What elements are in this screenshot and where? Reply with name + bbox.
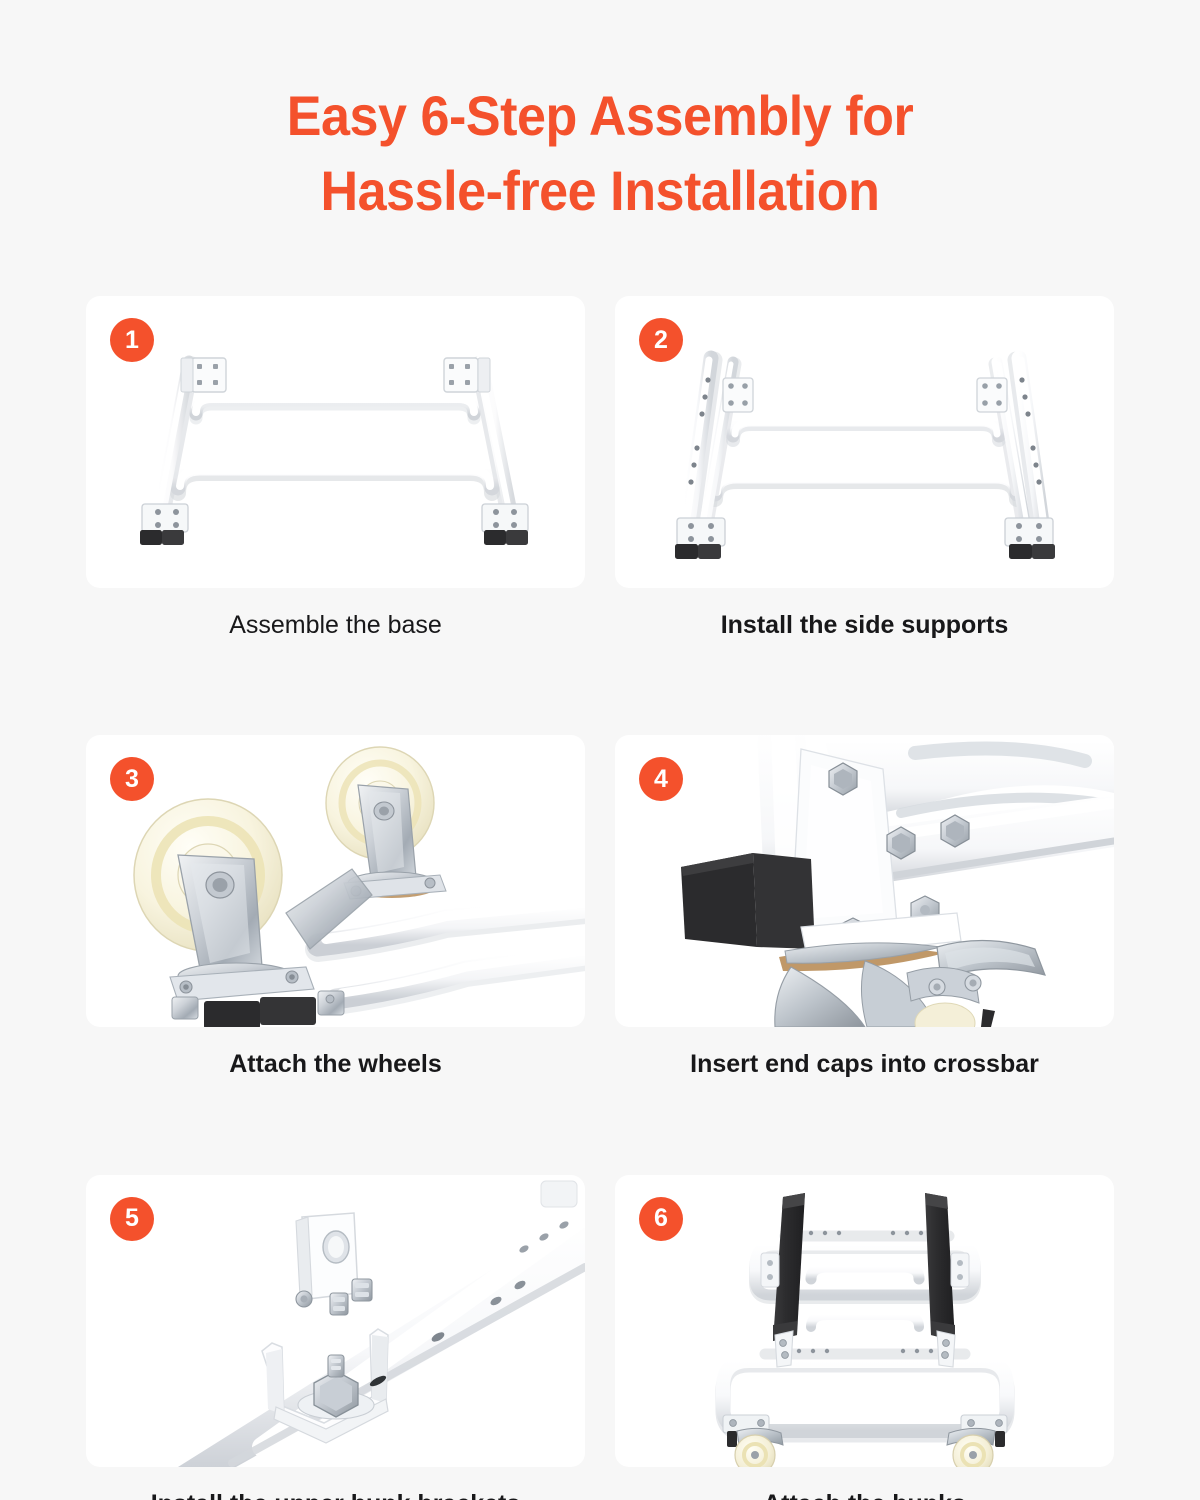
step-1-caption: Assemble the base xyxy=(86,610,585,641)
step-2-image-card: 2 xyxy=(615,296,1114,588)
step-number-badge-4: 4 xyxy=(639,757,683,801)
step-5-image-card: 5 xyxy=(86,1175,585,1467)
step-6-image-card: 6 xyxy=(615,1175,1114,1467)
steps-grid: 1 xyxy=(86,296,1114,1500)
step-card-5: 5 xyxy=(86,1175,585,1500)
page-title: Easy 6-Step Assembly for Hassle-free Ins… xyxy=(42,78,1158,228)
step-6-caption: Attach the bunks xyxy=(615,1489,1114,1500)
assembly-instructions-page: Easy 6-Step Assembly for Hassle-free Ins… xyxy=(0,0,1200,1500)
step-3-image-card: 3 xyxy=(86,735,585,1027)
step-number-badge-3: 3 xyxy=(110,757,154,801)
step-number-badge-5: 5 xyxy=(110,1197,154,1241)
step-card-6: 6 xyxy=(615,1175,1114,1500)
step-4-caption: Insert end caps into crossbar xyxy=(615,1049,1114,1080)
step-number-badge-2: 2 xyxy=(639,318,683,362)
step-card-1: 1 xyxy=(86,296,585,641)
step-number-badge-6: 6 xyxy=(639,1197,683,1241)
step-1-image-card: 1 xyxy=(86,296,585,588)
step-2-caption: Install the side supports xyxy=(615,610,1114,641)
step-1-illustration-base-frame xyxy=(86,296,585,588)
page-title-line-2: Hassle-free Installation xyxy=(42,153,1158,228)
step-6-illustration-assembled-dolly xyxy=(615,1175,1114,1467)
page-title-line-1: Easy 6-Step Assembly for xyxy=(42,78,1158,153)
step-card-4: 4 xyxy=(615,735,1114,1080)
step-3-caption: Attach the wheels xyxy=(86,1049,585,1080)
step-number-badge-1: 1 xyxy=(110,318,154,362)
step-4-illustration-end-caps xyxy=(615,735,1114,1027)
step-5-caption: Install the upper bunk brackets xyxy=(86,1489,585,1500)
step-5-illustration-bunk-bracket xyxy=(86,1175,585,1467)
step-2-illustration-side-supports xyxy=(615,296,1114,588)
step-card-2: 2 xyxy=(615,296,1114,641)
step-4-image-card: 4 xyxy=(615,735,1114,1027)
step-3-illustration-caster-wheels xyxy=(86,735,585,1027)
step-card-3: 3 xyxy=(86,735,585,1080)
